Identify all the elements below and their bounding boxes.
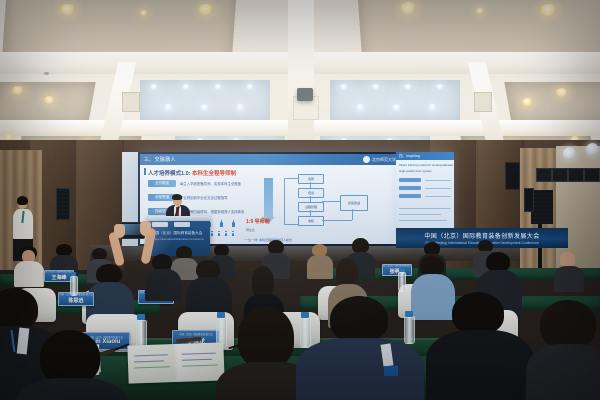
- slide-title-accent-bar: [144, 168, 146, 175]
- lighting-truss: [536, 168, 552, 182]
- name-placard: 中国（北京）国际教育装备大会 张明远: [382, 264, 412, 276]
- photographer-right-hand: [140, 221, 151, 236]
- lighting-truss: [568, 168, 584, 182]
- lighting-truss: [552, 168, 568, 182]
- bottle-cap: [71, 272, 76, 276]
- secondary-slide-bullet-2: High-quality tutor system: [399, 169, 432, 173]
- ceiling-downlight-cool: [236, 104, 245, 111]
- ceiling-downlight-cool: [200, 104, 209, 111]
- ceiling-downlight-cool: [404, 84, 412, 90]
- person-icon: [232, 220, 235, 227]
- slide-title-prefix: 人才培养模式1.0:: [148, 171, 190, 177]
- slide-pill-2-label: 全程贯通: [155, 195, 169, 200]
- ceiling-projector: [297, 88, 313, 101]
- person-icon: [220, 220, 223, 227]
- ceiling-downlight: [12, 86, 24, 95]
- secondary-slide-pill-1: [399, 178, 421, 182]
- flow-connector: [322, 201, 340, 202]
- down-arrow-icon: [264, 178, 273, 218]
- secondary-slide-bullet-1: Talent training model for undergraduates: [399, 163, 453, 167]
- bottle-cap: [399, 268, 404, 272]
- university-seal-icon: [363, 156, 370, 163]
- flow-connector: [352, 209, 353, 220]
- secondary-slide-header: 四、Inspiring: [396, 152, 454, 160]
- ceiling-beam-center: [288, 0, 314, 150]
- line-array-speaker: [531, 190, 553, 224]
- secondary-slide-pill-3: [399, 194, 421, 198]
- slide-pill-1-label: 全员覆盖: [155, 181, 169, 186]
- conference-booklet: [127, 342, 224, 383]
- sprinkler-head: [44, 72, 49, 75]
- secondary-slide-line: [425, 196, 451, 197]
- secondary-slide-line: [425, 188, 451, 189]
- ceiling-air-vent: [122, 92, 140, 112]
- flow-connector: [310, 182, 311, 188]
- flow-rail: [284, 224, 298, 225]
- secondary-slide-line: [399, 214, 441, 215]
- flow-connector: [322, 220, 352, 221]
- ceiling: [0, 0, 600, 150]
- water-bottle: [404, 316, 415, 344]
- slide-pill-1-desc: 每生入学即配备导师，实现本科生全覆盖: [180, 181, 241, 186]
- booklet-text-line: [182, 353, 216, 355]
- wall-speaker: [505, 162, 520, 190]
- water-bottle: [398, 272, 406, 292]
- ceiling-downlight: [476, 8, 484, 14]
- ceiling-downlight-cool: [246, 84, 254, 90]
- ceiling-downlight: [198, 4, 214, 15]
- stage-light: [563, 147, 576, 160]
- ceiling-downlight-cool: [214, 84, 222, 90]
- stage-light: [586, 143, 599, 156]
- ceiling-downlight: [60, 4, 76, 15]
- ceiling-downlight-cool: [182, 84, 190, 90]
- wall-speaker-left-grill: [57, 190, 67, 216]
- ceiling-downlight: [400, 2, 417, 14]
- bottle-cap: [405, 311, 413, 317]
- person-icon-small: [225, 231, 227, 236]
- placard-name: 陈思远: [68, 297, 83, 304]
- person-icon-small: [218, 231, 220, 236]
- slide-logo-text: 北京师范大学: [372, 157, 396, 163]
- ceiling-coffer: [504, 82, 600, 124]
- booklet-text-line: [182, 365, 218, 367]
- slide-header-title: 三、交融融人: [144, 156, 176, 163]
- ceiling-air-vent: [474, 92, 492, 112]
- flow-rail: [284, 178, 285, 224]
- ceiling-downlight-cool: [340, 84, 348, 90]
- water-bottle: [300, 318, 311, 348]
- water-bottle: [70, 276, 78, 296]
- slide-title-highlight: 本科生全程导师制: [192, 171, 236, 177]
- bottle-cap: [137, 314, 145, 320]
- ceiling-downlight: [140, 10, 148, 16]
- bottle-cap: [301, 312, 309, 318]
- slide-ratio-label: 1:9 导师制: [246, 218, 270, 225]
- booklet-text-line: [134, 360, 164, 362]
- slide-logo: 北京师范大学: [363, 156, 396, 163]
- slide-caption: "一生一师" 本科全程导师制育人模式: [244, 238, 292, 242]
- speaker-bracket: [524, 188, 534, 212]
- slide-pill-1: 全员覆盖: [148, 180, 176, 187]
- person-icon-small: [211, 231, 213, 236]
- ceiling-downlight: [540, 4, 557, 16]
- slide-pill-2-desc: 学业规划到毕业论文全过程指导: [180, 195, 227, 200]
- flow-box-1: 选聘: [298, 174, 324, 184]
- booklet-text-line: [182, 359, 212, 361]
- lighting-truss: [584, 168, 600, 182]
- flow-box-2: 培训: [298, 188, 324, 198]
- booklet-text-line: [134, 354, 168, 356]
- flow-box-5: 反馈改进: [340, 195, 368, 211]
- name-badge: [384, 366, 398, 376]
- person-icon-small: [232, 231, 234, 236]
- conference-hall-photo: 三、交融融人 北京师范大学 人才培养模式1.0: 本科生全程导师制 全员覆盖 每…: [0, 0, 600, 400]
- photographer-left-hand: [114, 224, 125, 238]
- ceiling-downlight: [556, 88, 568, 97]
- flow-connector: [310, 210, 311, 216]
- stage-banner-title-cn: 中国（北京）国际教育装备创新发展大会: [424, 231, 539, 240]
- ceiling-downlight-cool: [164, 104, 173, 111]
- flow-connector: [310, 196, 311, 202]
- ceiling-downlight-cool: [392, 104, 401, 111]
- flow-rail: [284, 178, 298, 179]
- ceiling-downlight-cool: [428, 104, 437, 111]
- ceiling-downlight-cool: [150, 84, 158, 90]
- flow-box-4: 考核: [298, 216, 324, 226]
- secondary-slide-line: [425, 180, 451, 181]
- ceiling-downlight-cool: [372, 84, 380, 90]
- slide-header: 三、交融融人 北京师范大学: [140, 154, 400, 165]
- slide-title: 人才培养模式1.0: 本科生全程导师制: [148, 169, 236, 177]
- staff-hair: [17, 196, 28, 205]
- booklet-text-line: [134, 366, 170, 368]
- secondary-slide-line: [399, 220, 447, 221]
- presenter-hair: [172, 194, 182, 200]
- ceiling-downlight: [44, 96, 55, 104]
- ceiling-downlight-cool: [436, 84, 444, 90]
- ceiling-downlight: [522, 98, 533, 106]
- secondary-slide-line: [399, 208, 451, 209]
- secondary-slide-pill-2: [399, 186, 421, 190]
- slide-ratio-sublabel: 师生比: [246, 228, 255, 232]
- ceiling-downlight-cool: [356, 104, 365, 111]
- flow-box-3: 过程管理: [298, 202, 324, 212]
- placard-name: 王海峰: [51, 274, 66, 281]
- bottle-cap: [217, 312, 225, 318]
